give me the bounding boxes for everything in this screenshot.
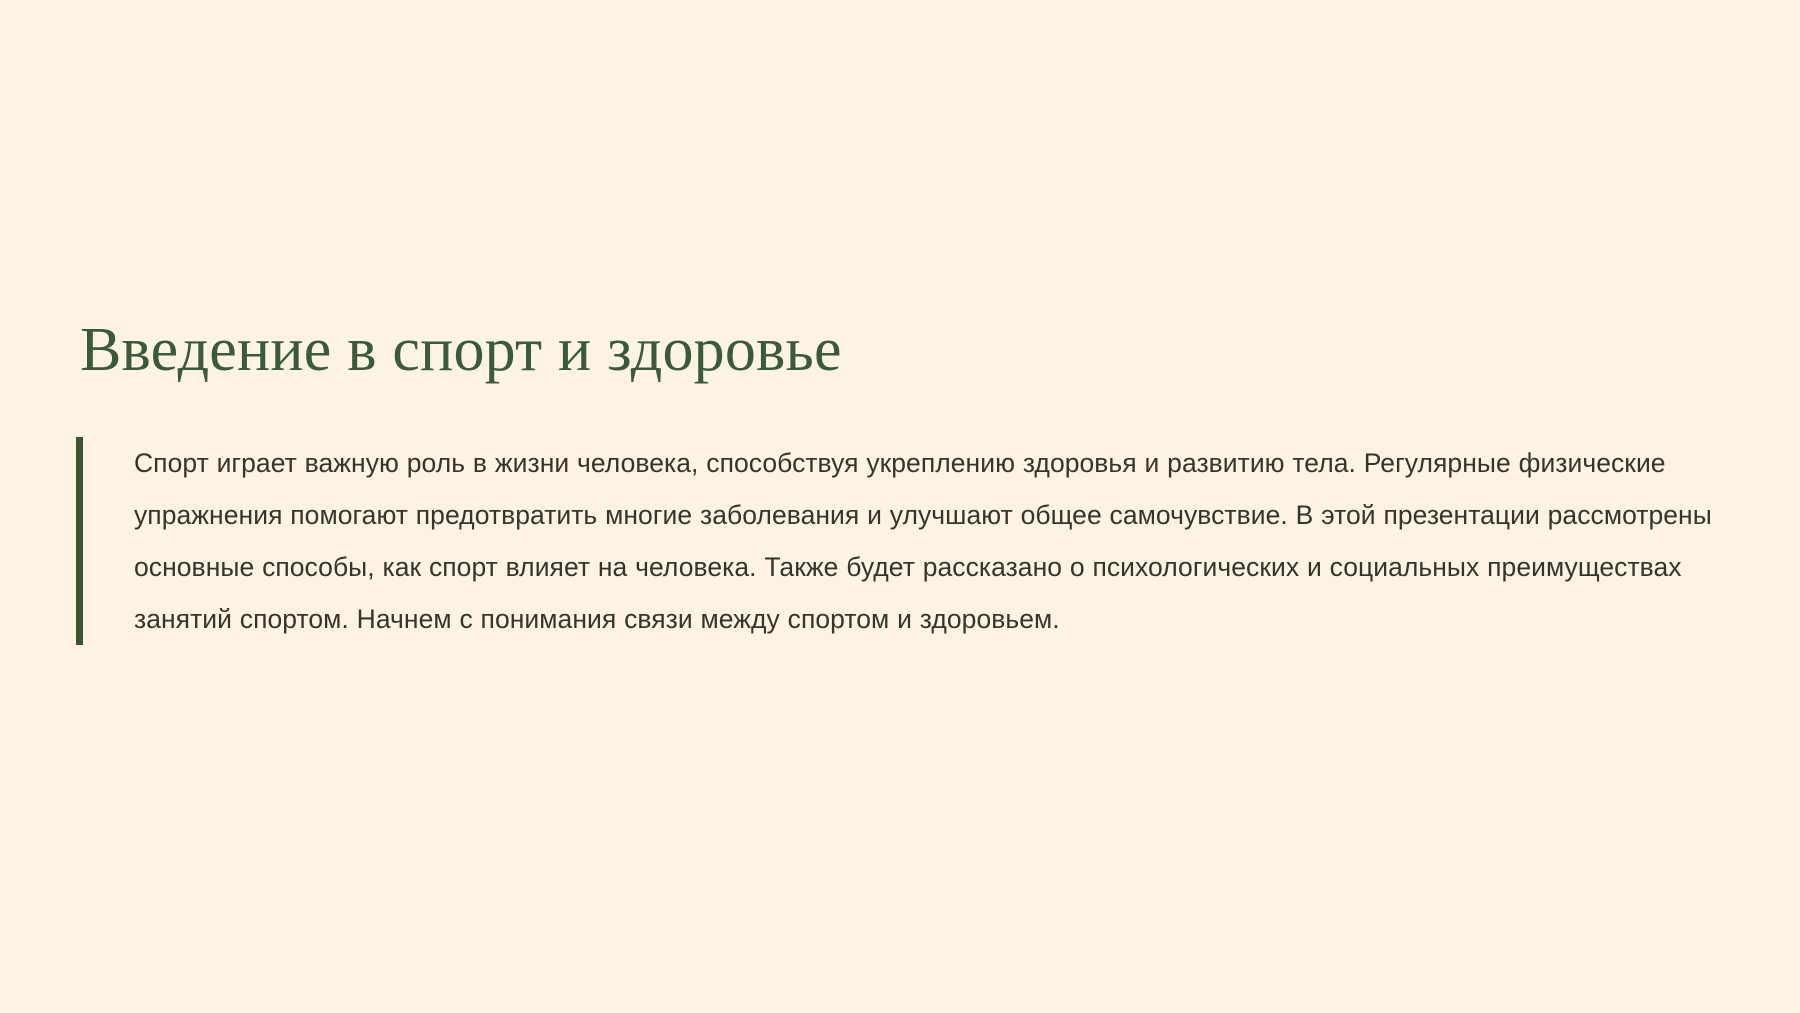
presentation-slide: Введение в спорт и здоровье Спорт играет… — [0, 0, 1800, 1013]
body-paragraph: Спорт играет важную роль в жизни человек… — [134, 437, 1736, 645]
page-title: Введение в спорт и здоровье — [80, 318, 1720, 383]
accent-bar — [76, 437, 83, 645]
body-text-container: Спорт играет важную роль в жизни человек… — [83, 437, 1736, 645]
body-callout-block: Спорт играет важную роль в жизни человек… — [76, 437, 1736, 645]
